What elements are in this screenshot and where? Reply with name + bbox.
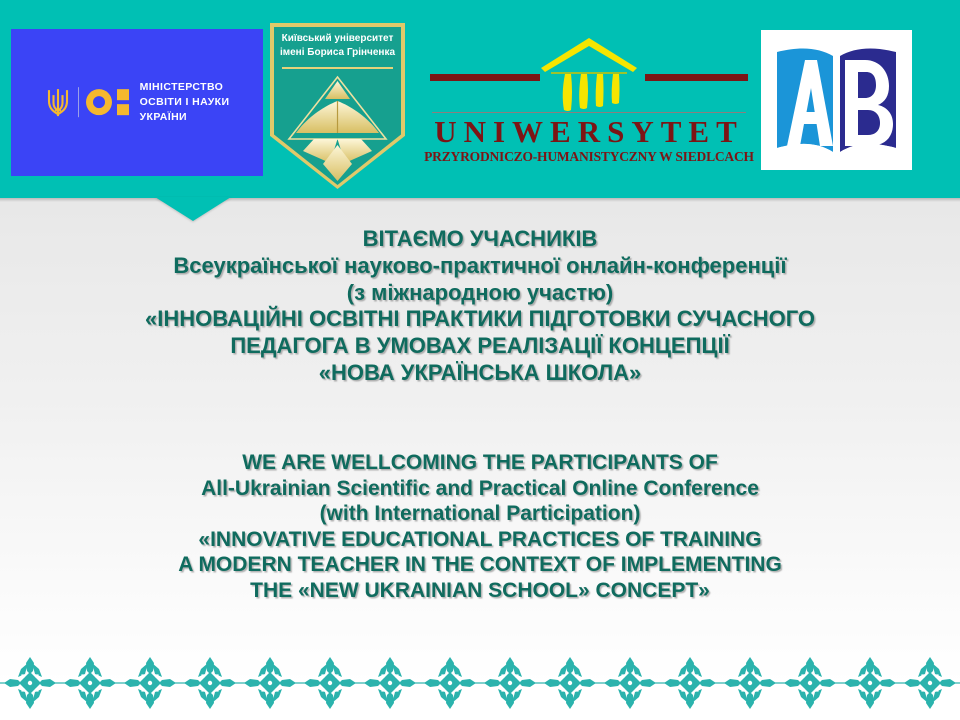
logo-divider xyxy=(78,88,79,118)
classical-temple-icon xyxy=(529,32,649,121)
uni-bar-left xyxy=(430,74,540,81)
open-book-pyramid-icon xyxy=(270,67,405,185)
ua-heading: ВІТАЄМО УЧАСНИКІВ xyxy=(0,226,960,253)
logo-grinchenko-university: Київський університет імені Бориса Грінч… xyxy=(270,23,405,189)
english-text-block: WE ARE WELLCOMING THE PARTICIPANTS OF Al… xyxy=(0,450,960,604)
ministry-om-mark-icon xyxy=(86,90,129,116)
ua-subline-1: Всеукраїнської науково-практичної онлайн… xyxy=(0,253,960,280)
ukrainian-text-block: ВІТАЄМО УЧАСНИКІВ Всеукраїнської науково… xyxy=(0,226,960,387)
logo-ministry-of-education: МІНІСТЕРСТВО ОСВІТИ І НАУКИ УКРАЇНИ xyxy=(11,29,263,176)
logo-uniwersytet-siedlce: UNIWERSYTET PRZYRODNICZO-HUMANISTYCZNY W… xyxy=(424,30,754,170)
ua-title-line-1: «ІННОВАЦІЙНІ ОСВІТНІ ПРАКТИКИ ПІДГОТОВКИ… xyxy=(0,306,960,333)
uniwersytet-subtitle: PRZYRODNICZO-HUMANISTYCZNY W SIEDLCACH xyxy=(424,149,754,165)
logo-ab-publisher xyxy=(761,30,912,170)
en-title-line-2: A MODERN TEACHER IN THE CONTEXT OF IMPLE… xyxy=(0,552,960,578)
en-title-line-3: THE «NEW UKRAINIAN SCHOOL» CONCEPT» xyxy=(0,578,960,604)
uni-thin-rule xyxy=(432,112,746,113)
ua-subline-2: (з міжнародною участю) xyxy=(0,280,960,307)
header-notch-triangle xyxy=(155,197,231,221)
ua-title-line-3: «НОВА УКРАЇНСЬКА ШКОЛА» xyxy=(0,360,960,387)
uniwersytet-wordmark: UNIWERSYTET xyxy=(424,116,754,147)
en-heading: WE ARE WELLCOMING THE PARTICIPANTS OF xyxy=(0,450,960,476)
ukraine-trident-icon xyxy=(45,86,71,119)
ua-title-line-2: ПЕДАГОГА В УМОВАХ РЕАЛІЗАЦІЇ КОНЦЕПЦІЇ xyxy=(0,333,960,360)
en-title-line-1: «INNOVATIVE EDUCATIONAL PRACTICES OF TRA… xyxy=(0,527,960,553)
en-subline-1: All-Ukrainian Scientific and Practical O… xyxy=(0,476,960,502)
uni-bar-right xyxy=(645,74,748,81)
shield-university-name: Київський університет імені Бориса Грінч… xyxy=(277,32,398,59)
presentation-slide: МІНІСТЕРСТВО ОСВІТИ І НАУКИ УКРАЇНИ Київ… xyxy=(0,0,960,720)
en-subline-2: (with International Participation) xyxy=(0,501,960,527)
ministry-wordmark: МІНІСТЕРСТВО ОСВІТИ І НАУКИ УКРАЇНИ xyxy=(140,80,230,126)
header-shadow xyxy=(0,198,960,202)
footer-ornament-border xyxy=(0,652,960,716)
